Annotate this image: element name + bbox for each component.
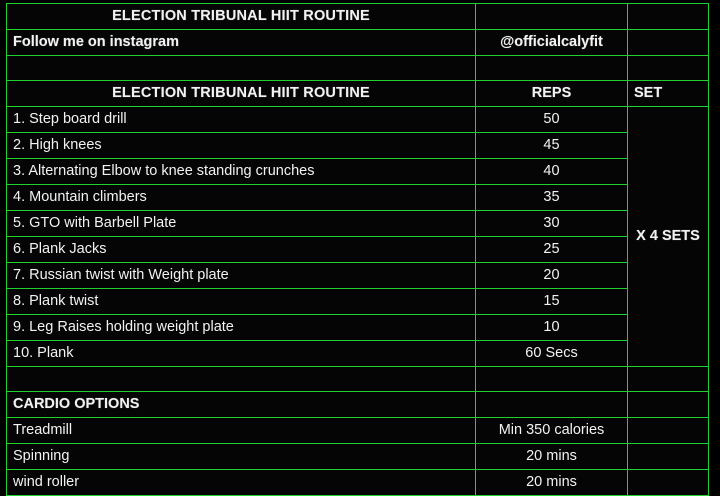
routine-header-row: ELECTION TRIBUNAL HIIT ROUTINE REPS SET (7, 81, 709, 107)
banner-reps-cell (476, 4, 628, 30)
exercise-name: 9. Leg Raises holding weight plate (7, 315, 476, 341)
cardio-item-set-cell (628, 418, 709, 444)
exercise-name: 1. Step board drill (7, 107, 476, 133)
table-row: 3. Alternating Elbow to knee standing cr… (7, 159, 709, 185)
exercise-name: 2. High knees (7, 133, 476, 159)
spacer-top-reps-cell (476, 56, 628, 81)
cardio-heading-set-cell (628, 392, 709, 418)
table-row: 6. Plank Jacks 25 (7, 237, 709, 263)
cardio-item-value: 20 mins (476, 444, 628, 470)
spacer-row-cardio (7, 367, 709, 392)
worksheet-canvas: ELECTION TRIBUNAL HIIT ROUTINE Follow me… (0, 0, 720, 486)
cardio-item-set-cell (628, 444, 709, 470)
banner-row: ELECTION TRIBUNAL HIIT ROUTINE (7, 4, 709, 30)
exercise-reps: 50 (476, 107, 628, 133)
exercise-name: 7. Russian twist with Weight plate (7, 263, 476, 289)
cardio-options-heading: CARDIO OPTIONS (7, 392, 476, 418)
spacer-top-set-cell (628, 56, 709, 81)
table-row: Treadmill Min 350 calories (7, 418, 709, 444)
spacer-cardio-reps-cell (476, 367, 628, 392)
table-row: 9. Leg Raises holding weight plate 10 (7, 315, 709, 341)
exercise-reps: 20 (476, 263, 628, 289)
cardio-item-value: 20 mins (476, 470, 628, 496)
table-row: 2. High knees 45 (7, 133, 709, 159)
table-row: 1. Step board drill 50 X 4 SETS (7, 107, 709, 133)
column-header-exercise: ELECTION TRIBUNAL HIIT ROUTINE (7, 81, 476, 107)
exercise-name: 4. Mountain climbers (7, 185, 476, 211)
exercise-reps: 40 (476, 159, 628, 185)
exercise-name: 8. Plank twist (7, 289, 476, 315)
exercise-name: 5. GTO with Barbell Plate (7, 211, 476, 237)
table-row: 5. GTO with Barbell Plate 30 (7, 211, 709, 237)
spacer-top-name-cell (7, 56, 476, 81)
column-header-reps: REPS (476, 81, 628, 107)
table-row: 4. Mountain climbers 35 (7, 185, 709, 211)
hiit-routine-table: ELECTION TRIBUNAL HIIT ROUTINE Follow me… (6, 3, 709, 496)
exercise-name: 3. Alternating Elbow to knee standing cr… (7, 159, 476, 185)
exercise-reps: 35 (476, 185, 628, 211)
cardio-item-name: wind roller (7, 470, 476, 496)
banner-title-cell: ELECTION TRIBUNAL HIIT ROUTINE (7, 4, 476, 30)
exercise-reps: 10 (476, 315, 628, 341)
exercise-reps: 60 Secs (476, 341, 628, 367)
spacer-cardio-set-cell (628, 367, 709, 392)
column-header-set: SET (628, 81, 709, 107)
instagram-handle-cell: @officialcalyfit (476, 30, 628, 56)
follow-set-cell (628, 30, 709, 56)
cardio-heading-row: CARDIO OPTIONS (7, 392, 709, 418)
cardio-item-set-cell (628, 470, 709, 496)
cardio-item-name: Treadmill (7, 418, 476, 444)
exercise-reps: 25 (476, 237, 628, 263)
spacer-cardio-name-cell (7, 367, 476, 392)
exercise-reps: 45 (476, 133, 628, 159)
follow-row: Follow me on instagram @officialcalyfit (7, 30, 709, 56)
table-row: Spinning 20 mins (7, 444, 709, 470)
exercise-reps: 15 (476, 289, 628, 315)
banner-set-cell (628, 4, 709, 30)
exercise-name: 6. Plank Jacks (7, 237, 476, 263)
exercise-reps: 30 (476, 211, 628, 237)
table-row: 8. Plank twist 15 (7, 289, 709, 315)
exercise-name: 10. Plank (7, 341, 476, 367)
cardio-heading-reps-cell (476, 392, 628, 418)
cardio-item-name: Spinning (7, 444, 476, 470)
table-row: 7. Russian twist with Weight plate 20 (7, 263, 709, 289)
spacer-row-top (7, 56, 709, 81)
follow-label-cell: Follow me on instagram (7, 30, 476, 56)
table-row: wind roller 20 mins (7, 470, 709, 496)
sets-note-cell: X 4 SETS (628, 107, 709, 367)
cardio-item-value: Min 350 calories (476, 418, 628, 444)
table-row: 10. Plank 60 Secs (7, 341, 709, 367)
